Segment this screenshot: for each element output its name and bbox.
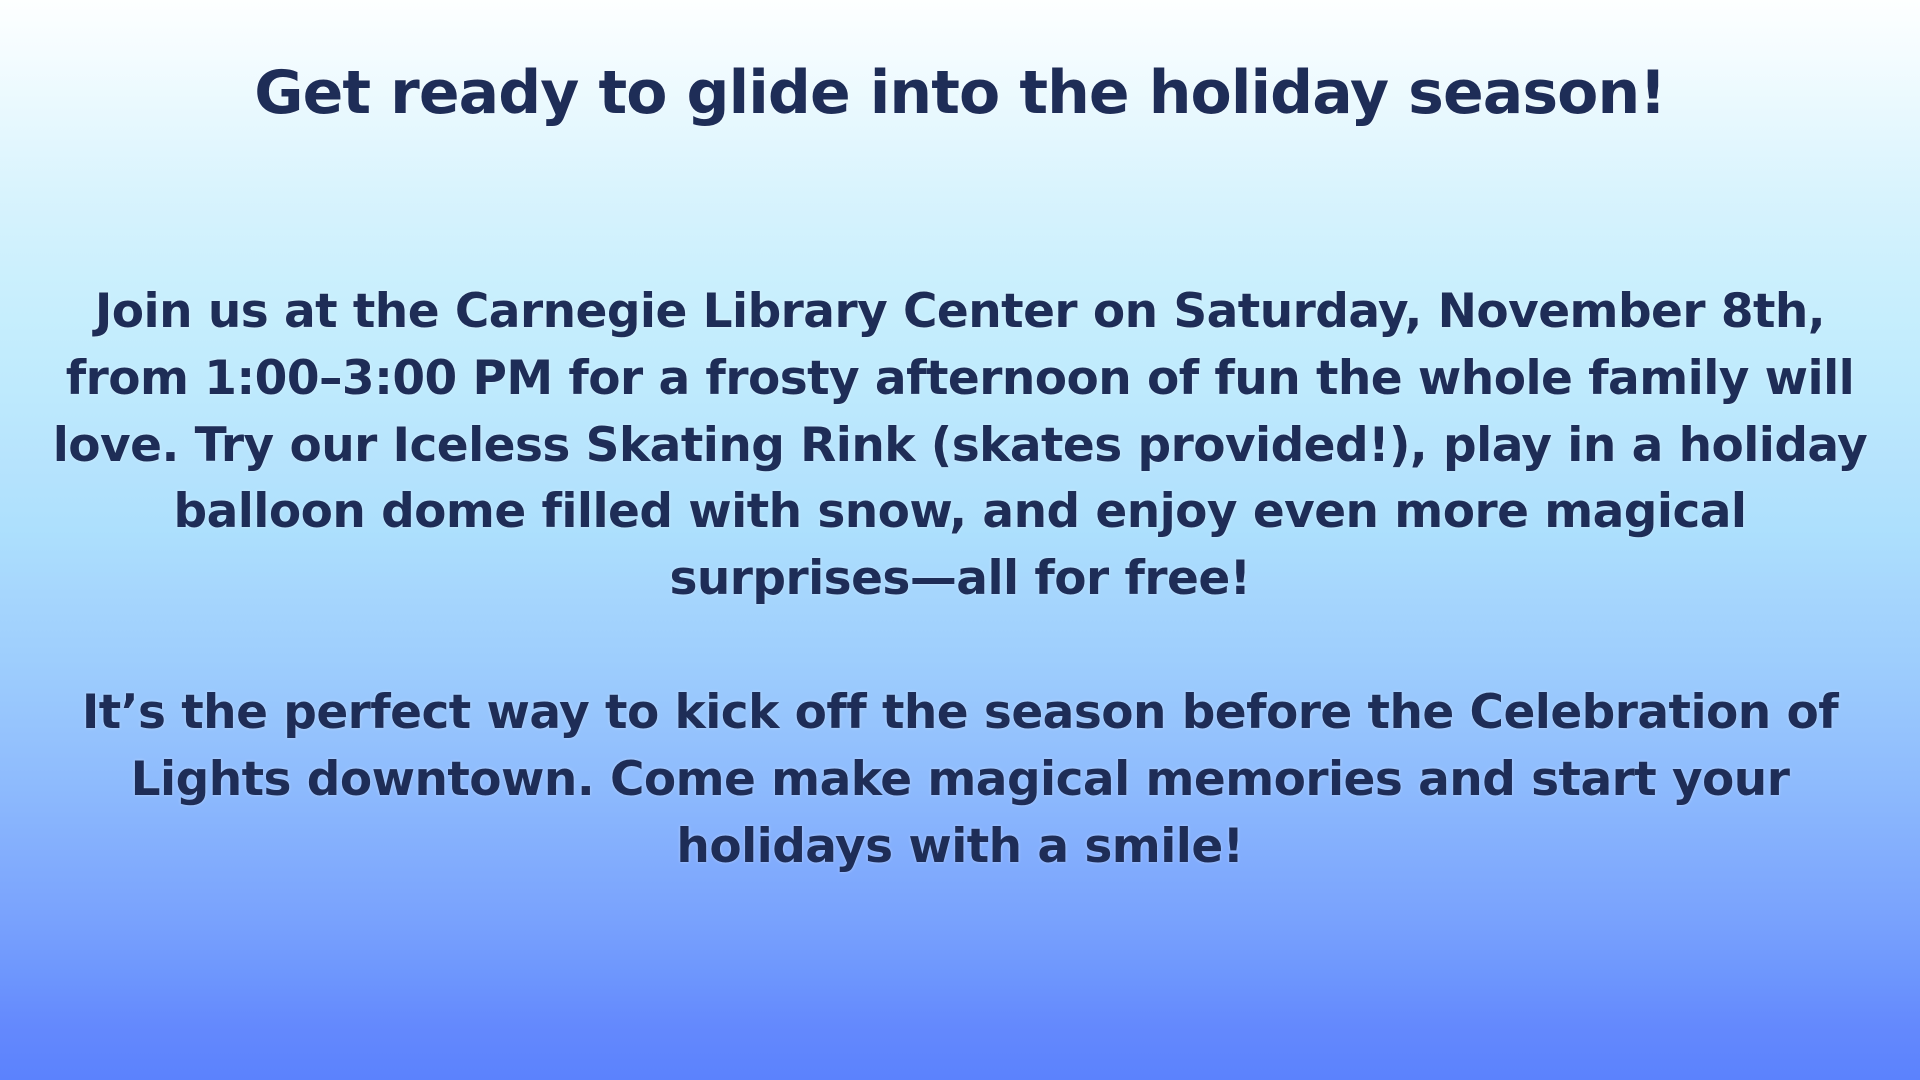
body-paragraph-1: Join us at the Carnegie Library Center o… [52, 279, 1868, 614]
page-title: Get ready to glide into the holiday seas… [0, 62, 1920, 126]
body-copy: Join us at the Carnegie Library Center o… [0, 212, 1920, 949]
promo-poster: Get ready to glide into the holiday seas… [0, 0, 1920, 1080]
body-paragraph-2: It’s the perfect way to kick off the sea… [52, 680, 1868, 881]
